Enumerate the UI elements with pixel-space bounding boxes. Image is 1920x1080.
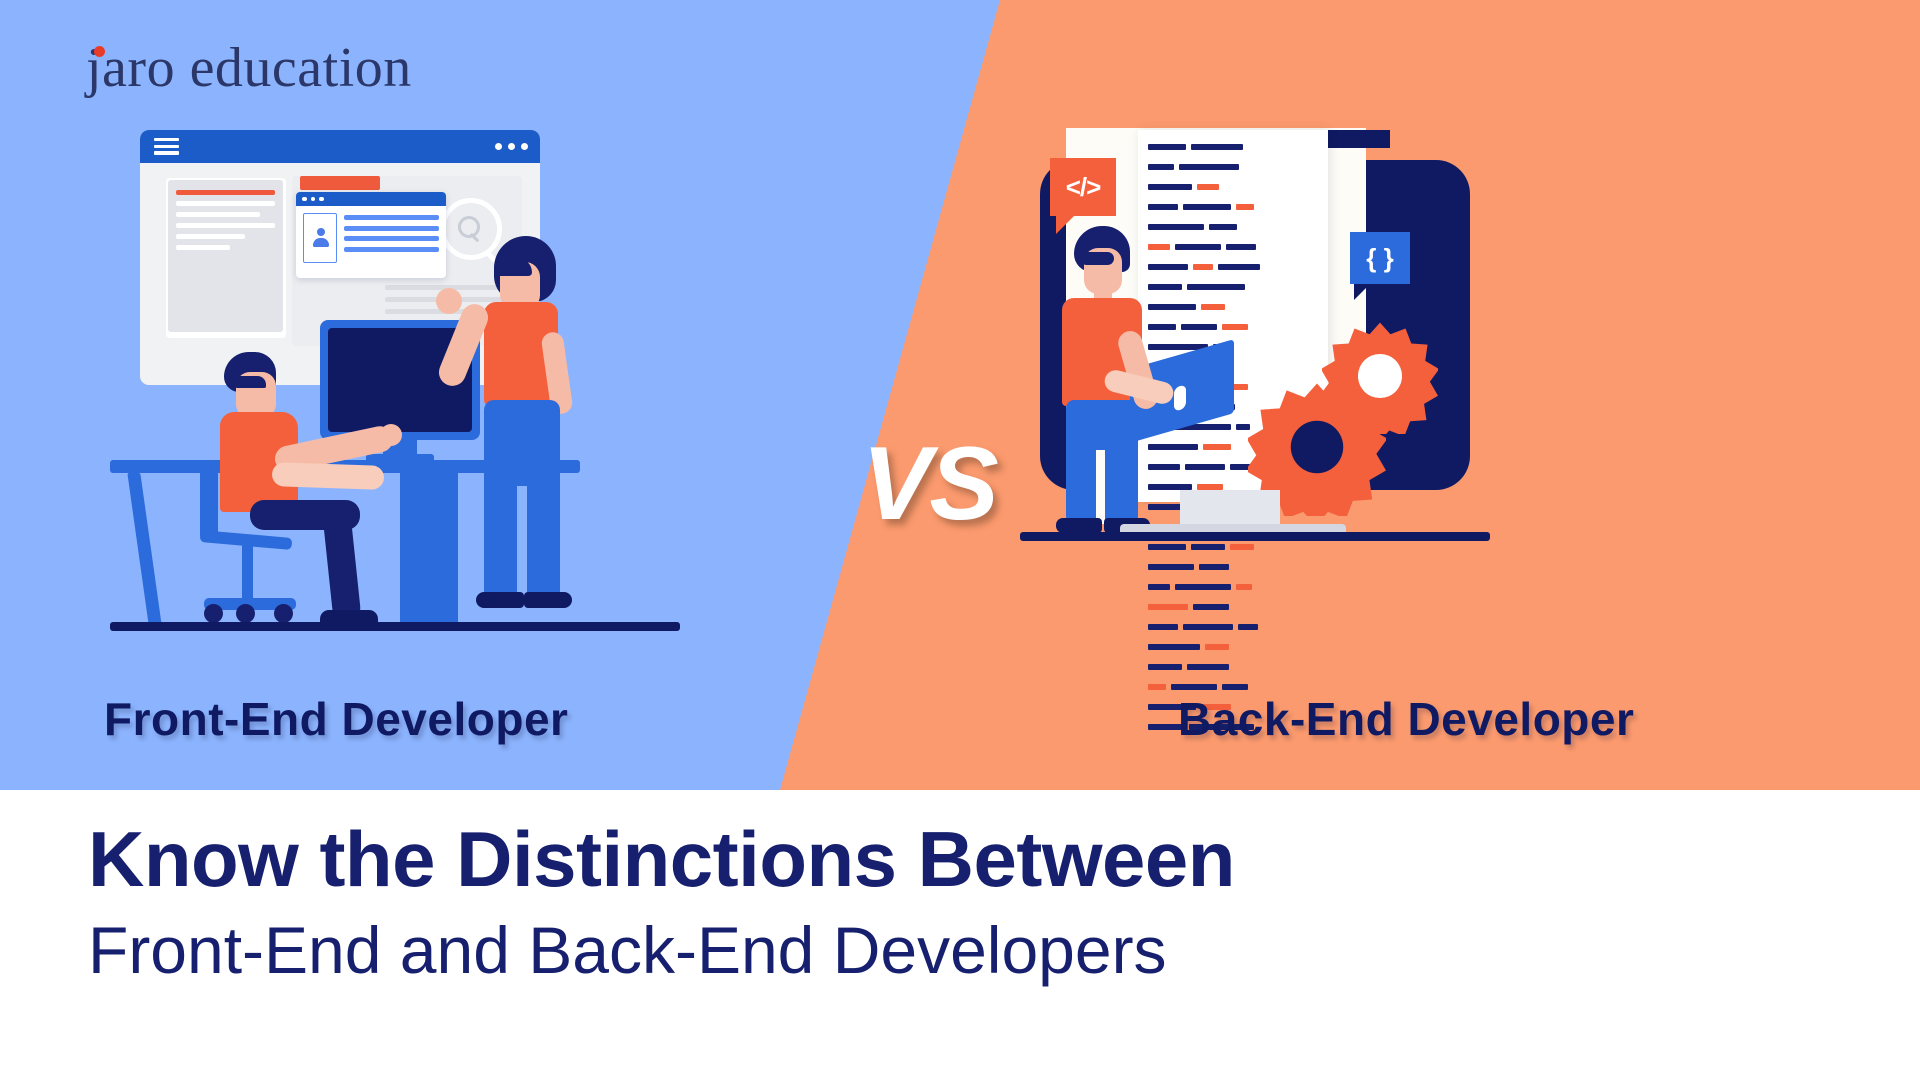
monitor-neck [1180,490,1280,526]
figure-hand [380,424,402,446]
code-line-row [1138,604,1328,618]
code-token [1148,664,1182,670]
figure-shoe [524,592,572,608]
code-token [1148,184,1192,190]
brand-logo-text: jaro education [86,40,412,96]
code-tag-badge: </> [1050,158,1116,216]
code-line-row [1138,564,1328,578]
code-token [1148,624,1178,630]
text-line [344,236,439,241]
chair-pole [242,542,253,606]
code-token [1193,264,1213,270]
code-line-row [1138,544,1328,558]
figure-hand [436,288,462,314]
card-text-line [176,201,275,206]
chair-wheel [204,604,223,623]
code-token [1226,244,1256,250]
figure-leg-gap [517,486,527,600]
text-line [344,215,439,220]
code-token [1179,164,1239,170]
brand-logo[interactable]: jaro education [86,40,412,96]
code-line-row [1138,164,1328,178]
code-token [1148,204,1178,210]
avatar [303,213,337,263]
figure-shin [322,511,361,623]
code-token [1205,644,1229,650]
desk-leg-left [127,473,161,625]
code-token [1209,224,1237,230]
browser-title-bar [140,130,540,163]
card-text-line [176,212,260,217]
front-end-role-label: Front-End Developer [104,692,568,746]
code-token [1191,144,1243,150]
figure-shoe [476,592,524,608]
code-line-row [1138,144,1328,158]
code-token [1238,624,1258,630]
content-card-front [168,180,283,332]
front-end-illustration [130,130,690,650]
code-token [1230,544,1254,550]
window-dots-icon [495,143,528,150]
figure-leg-gap [1096,450,1105,524]
chair-wheel [236,604,255,623]
chair-backrest [200,468,218,540]
code-token [1193,604,1229,610]
floor-line [110,622,680,631]
code-token [1203,444,1231,450]
desk-leg-right [400,473,458,625]
card-text-line [176,223,275,228]
figure-fringe [1080,252,1114,265]
figure-shoe [1056,518,1102,533]
headline-line-2: Front-End and Back-End Developers [88,914,1848,988]
back-end-illustration: </> { } [1010,140,1530,650]
seated-developer-figure [202,352,382,627]
code-token [1148,144,1186,150]
code-line-row [1138,184,1328,198]
code-token [1148,164,1174,170]
card-text-line [176,234,245,239]
code-token [1183,204,1231,210]
floor-line [1020,532,1490,541]
card-text-line [176,245,230,250]
code-line-row [1138,664,1328,678]
orange-accent-strip [300,176,380,190]
code-line-row [1138,584,1328,598]
code-token [1197,184,1219,190]
code-token [1175,584,1231,590]
card-accent-line [176,190,275,195]
user-avatar-icon [312,228,329,249]
code-line-row [1138,624,1328,638]
versus-label: VS [862,432,997,536]
text-line [344,226,439,231]
standing-developer-figure [1052,226,1192,536]
profile-popup-card [296,192,446,278]
code-token [1236,584,1252,590]
code-token [1148,564,1194,570]
poster-canvas: jaro education [0,0,1920,1080]
code-line-row [1138,204,1328,218]
code-token [1183,624,1233,630]
code-token [1187,284,1245,290]
headline-line-1: Know the Distinctions Between [88,820,1848,900]
code-token [1148,644,1200,650]
hero-banner: jaro education [0,0,1920,790]
popup-text-lines [344,213,439,263]
code-token [1171,684,1217,690]
hamburger-icon [154,138,179,155]
figure-fringe [496,258,532,276]
code-token [1148,544,1186,550]
code-token [1236,204,1254,210]
code-token [1218,264,1260,270]
screen-toolbar [1328,130,1390,148]
code-token [1222,684,1248,690]
code-line-row [1138,644,1328,658]
figure-fringe [232,376,266,388]
code-token [1148,584,1170,590]
code-token [1222,324,1248,330]
popup-title-bar [296,192,446,206]
code-token [1191,544,1225,550]
back-end-role-label: Back-End Developer [1178,692,1634,746]
code-token [1148,684,1166,690]
standing-designer-figure [460,236,620,628]
code-token [1148,604,1188,610]
curly-brace-badge: { } [1350,232,1410,284]
chair-wheel [274,604,293,623]
text-line [344,247,439,252]
headline-block: Know the Distinctions Between Front-End … [88,820,1848,987]
logo-red-dot-icon [94,46,105,57]
figure-arm-lower [272,462,385,490]
code-token [1201,304,1225,310]
popup-body [296,206,446,270]
code-token [1187,664,1229,670]
code-token [1199,564,1229,570]
